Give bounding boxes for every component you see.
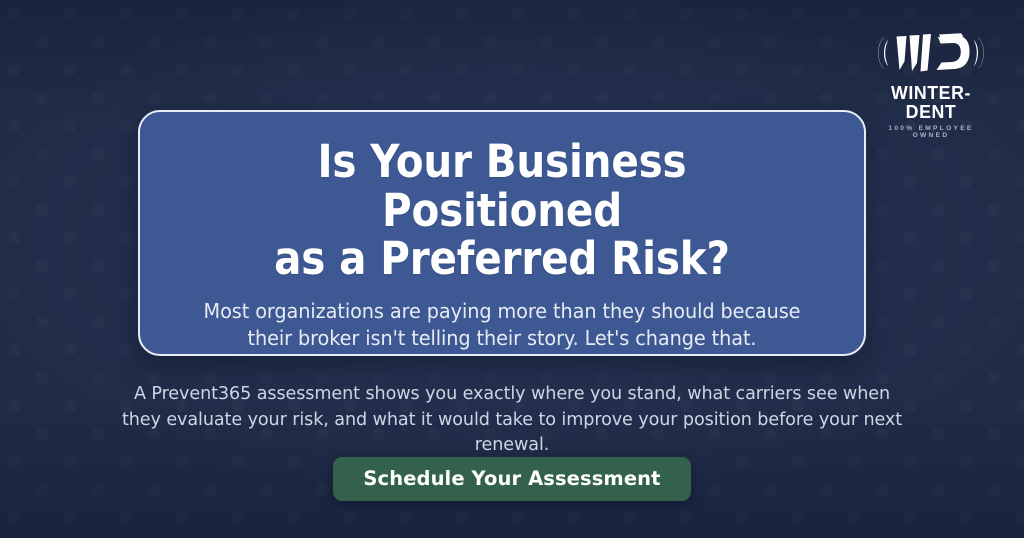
hero-card: Is Your Business Positioned as a Preferr… [138, 110, 866, 356]
schedule-assessment-button[interactable]: Schedule Your Assessment [333, 457, 690, 501]
brand-logo[interactable]: WINTER-DENT 100% EMPLOYEE OWNED [868, 28, 994, 139]
logo-tagline: 100% EMPLOYEE OWNED [868, 126, 994, 139]
headline-line-2: as a Preferred Risk? [203, 235, 801, 284]
logo-company-name: WINTER-DENT [871, 84, 992, 121]
page-title: Is Your Business Positioned as a Preferr… [203, 138, 801, 284]
promo-banner: WINTER-DENT 100% EMPLOYEE OWNED Is Your … [0, 0, 1024, 538]
supporting-paragraph: A Prevent365 assessment shows you exactl… [112, 382, 912, 459]
cta-container: Schedule Your Assessment [0, 457, 1024, 501]
wd-monogram-icon [868, 28, 994, 78]
hero-subheadline: Most organizations are paying more than … [192, 298, 812, 352]
headline-line-1: Is Your Business Positioned [318, 135, 687, 237]
